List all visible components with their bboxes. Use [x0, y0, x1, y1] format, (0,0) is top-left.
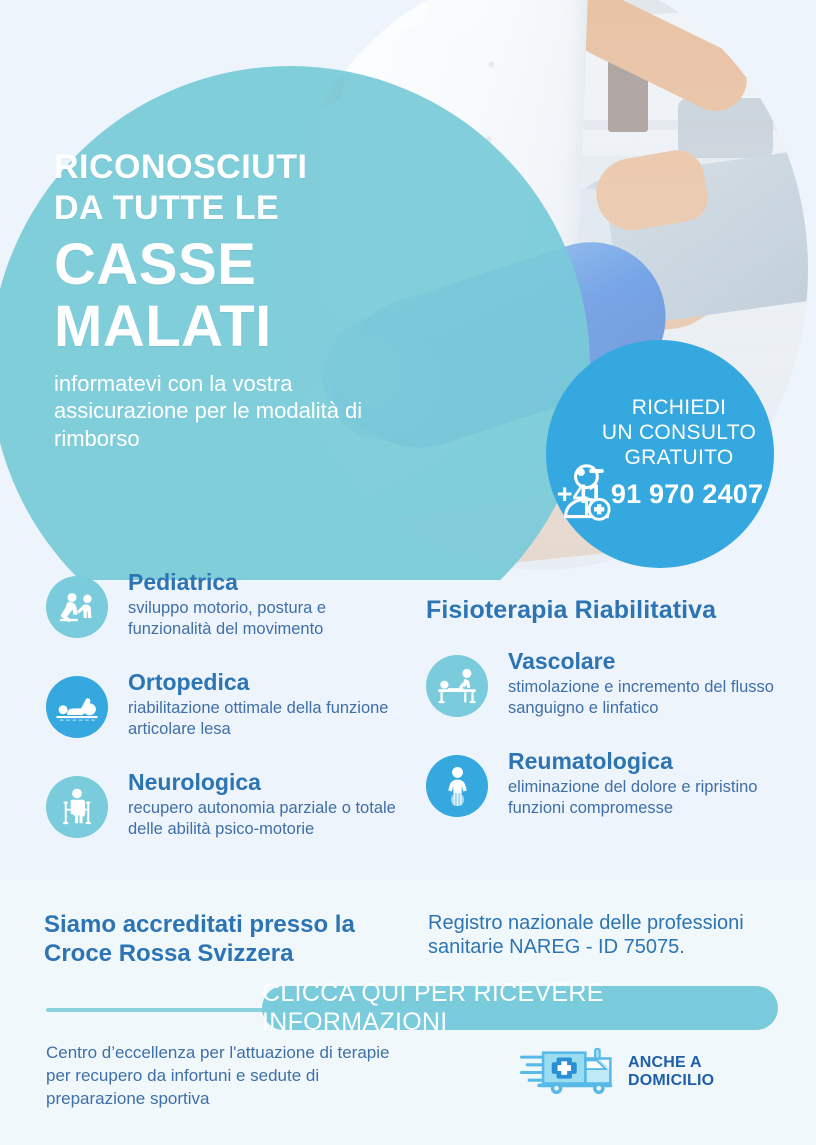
headline-line-3: CASSE: [54, 235, 414, 294]
doctor-icon: [562, 462, 620, 524]
service-item-ortopedica[interactable]: Ortopedica riabilitazione ottimale della…: [40, 670, 410, 766]
service-item-neurologica[interactable]: Neurologica recupero autonomia parziale …: [40, 770, 410, 866]
consult-line-1: RICHIEDI: [584, 396, 774, 421]
services-column-left: Pediatrica sviluppo motorio, postura e f…: [40, 570, 410, 870]
hero-section: RICONOSCIUTI DA TUTTE LE CASSE MALATI in…: [0, 0, 816, 580]
registry-text: Registro nazionale delle professioni san…: [428, 911, 798, 959]
person-standing-icon: [426, 755, 488, 817]
service-desc: eliminazione del dolore e ripristino fun…: [508, 777, 790, 819]
service-desc: recupero autonomia parziale o totale del…: [128, 798, 410, 840]
headline-line-4: MALATI: [54, 297, 414, 356]
service-name: Vascolare: [508, 649, 790, 674]
hero-text-block: RICONOSCIUTI DA TUTTE LE CASSE MALATI in…: [54, 150, 414, 453]
service-name: Neurologica: [128, 770, 410, 795]
service-name: Ortopedica: [128, 670, 410, 695]
person-lying-icon: [46, 676, 108, 738]
service-desc: riabilitazione ottimale della funzione a…: [128, 698, 410, 740]
massage-table-icon: [426, 655, 488, 717]
hero-subtext: informatevi con la vostra assicurazione …: [54, 370, 414, 453]
accreditation-title: Siamo accreditati presso la Croce Rossa …: [44, 910, 394, 969]
consult-badge-inner: RICHIEDI UN CONSULTO GRATUITO +41 91 970…: [546, 396, 774, 510]
home-service-badge: ANCHE A DOMICILIO: [520, 1045, 735, 1099]
home-service-line-1: ANCHE A: [628, 1054, 702, 1071]
home-service-label: ANCHE A DOMICILIO: [628, 1054, 714, 1090]
walker-icon: [46, 776, 108, 838]
headline-line-1: RICONOSCIUTI: [54, 150, 414, 185]
services-section: Pediatrica sviluppo motorio, postura e f…: [0, 560, 816, 885]
service-name: Pediatrica: [128, 570, 410, 595]
services-column-title: Fisioterapia Riabilitativa: [426, 596, 790, 625]
service-desc: stimolazione e incremento del flusso san…: [508, 677, 790, 719]
service-item-reumatologica[interactable]: Reumatologica eliminazione del dolore e …: [420, 749, 790, 845]
poster: RICONOSCIUTI DA TUTTE LE CASSE MALATI in…: [0, 0, 816, 1145]
consult-badge[interactable]: RICHIEDI UN CONSULTO GRATUITO +41 91 970…: [546, 340, 774, 568]
service-item-pediatrica[interactable]: Pediatrica sviluppo motorio, postura e f…: [40, 570, 410, 666]
ambulance-icon: [520, 1045, 620, 1100]
accreditation-block: Siamo accreditati presso la Croce Rossa …: [44, 910, 394, 969]
excellence-note: Centro d’eccellenza per l'attuazione di …: [46, 1042, 416, 1111]
service-desc: sviluppo motorio, postura e funzionalità…: [128, 598, 410, 640]
cta-button[interactable]: CLICCA QUI PER RICEVERE INFORMAZIONI: [262, 986, 778, 1030]
home-service-line-2: DOMICILIO: [628, 1072, 714, 1089]
services-column-right: Fisioterapia Riabilitativa: [420, 596, 790, 849]
consult-line-2: UN CONSULTO: [584, 421, 774, 446]
headline-line-2: DA TUTTE LE: [54, 191, 414, 226]
service-name: Reumatologica: [508, 749, 790, 774]
service-item-vascolare[interactable]: Vascolare stimolazione e incremento del …: [420, 649, 790, 745]
consult-badge-lines: RICHIEDI UN CONSULTO GRATUITO: [584, 396, 774, 470]
child-therapy-icon: [46, 576, 108, 638]
cta-divider-line: [46, 1008, 296, 1012]
